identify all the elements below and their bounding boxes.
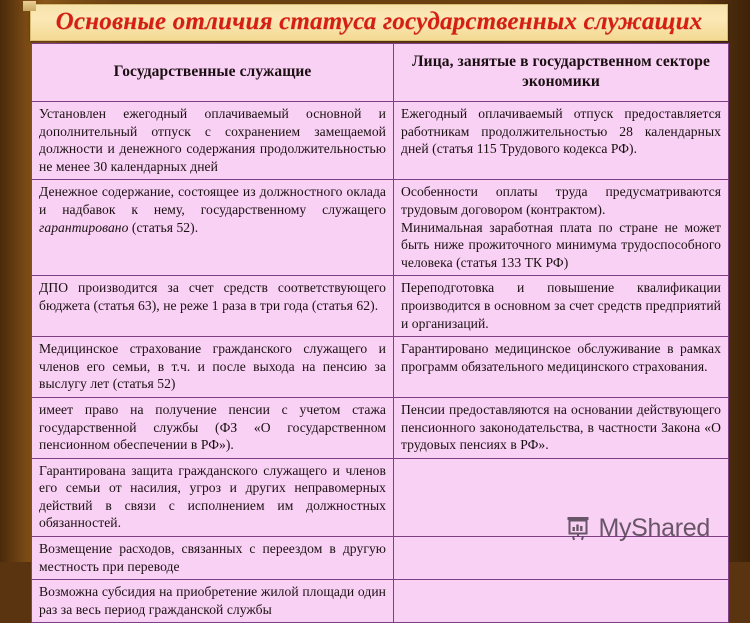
- cell-paragraph: Пенсии предоставляются на основании дейс…: [401, 401, 721, 454]
- cell-right-housing-empty: [394, 580, 729, 623]
- slide-title-banner: Основные отличия статуса государственных…: [30, 4, 728, 41]
- cell-right-medical: Гарантировано медицинское обслуживание в…: [394, 337, 729, 398]
- column-header-public-sector-workers: Лица, занятые в государственном секторе …: [394, 44, 729, 102]
- cell-right-pay: Особенности оплаты труда предусматривают…: [394, 180, 729, 276]
- table-row: ДПО производится за счет средств соответ…: [32, 276, 729, 337]
- cell-text-pre: Денежное содержание, состоящее из должно…: [39, 184, 386, 217]
- cell-paragraph: Переподготовка и повышение квалификации …: [401, 279, 721, 332]
- table-row: имеет право на получение пенсии с учетом…: [32, 397, 729, 458]
- slide-canvas: Основные отличия статуса государственных…: [0, 0, 750, 562]
- cell-paragraph: Денежное содержание, состоящее из должно…: [39, 183, 386, 236]
- table-row: Медицинское страхование гражданского слу…: [32, 337, 729, 398]
- cell-right-vacation: Ежегодный оплачиваемый отпуск предоставл…: [394, 102, 729, 180]
- cell-right-protection-empty: [394, 458, 729, 536]
- cell-left-pension: имеет право на получение пенсии с учетом…: [32, 397, 394, 458]
- cell-right-pension: Пенсии предоставляются на основании дейс…: [394, 397, 729, 458]
- cell-text-post: (статья 52).: [128, 220, 198, 235]
- cell-paragraph: Установлен ежегодный оплачиваемый основн…: [39, 105, 386, 175]
- cell-paragraph: Особенности оплаты труда предусматривают…: [401, 183, 721, 218]
- table-head: Государственные служащие Лица, занятые в…: [32, 44, 729, 102]
- cell-paragraph: Гарантировано медицинское обслуживание в…: [401, 340, 721, 375]
- cell-paragraph: Минимальная заработная плата по стране н…: [401, 219, 721, 272]
- cell-paragraph: Возможна субсидия на приобретение жилой …: [39, 583, 386, 618]
- cell-left-vacation: Установлен ежегодный оплачиваемый основн…: [32, 102, 394, 180]
- table-body: Установлен ежегодный оплачиваемый основн…: [32, 102, 729, 623]
- cell-paragraph: ДПО производится за счет средств соответ…: [39, 279, 386, 314]
- cell-right-relocation-empty: [394, 537, 729, 580]
- cell-left-housing: Возможна субсидия на приобретение жилой …: [32, 580, 394, 623]
- table-row: Возмещение расходов, связанных с переезд…: [32, 537, 729, 580]
- cell-text-emphasis: гарантировано: [39, 220, 128, 235]
- table-row: Установлен ежегодный оплачиваемый основн…: [32, 102, 729, 180]
- table-header-row: Государственные служащие Лица, занятые в…: [32, 44, 729, 102]
- cell-left-training: ДПО производится за счет средств соответ…: [32, 276, 394, 337]
- cell-left-protection: Гарантирована защита гражданского служащ…: [32, 458, 394, 536]
- cell-left-medical: Медицинское страхование гражданского слу…: [32, 337, 394, 398]
- cell-left-relocation: Возмещение расходов, связанных с переезд…: [32, 537, 394, 580]
- table-row: Возможна субсидия на приобретение жилой …: [32, 580, 729, 623]
- cell-left-pay: Денежное содержание, состоящее из должно…: [32, 180, 394, 276]
- comparison-table: Государственные служащие Лица, занятые в…: [31, 43, 729, 623]
- page-title: Основные отличия статуса государственных…: [30, 6, 728, 38]
- cell-paragraph: Медицинское страхование гражданского слу…: [39, 340, 386, 393]
- cell-paragraph: Гарантирована защита гражданского служащ…: [39, 462, 386, 532]
- cell-paragraph: Возмещение расходов, связанных с переезд…: [39, 540, 386, 575]
- cell-right-training: Переподготовка и повышение квалификации …: [394, 276, 729, 337]
- table-row: Гарантирована защита гражданского служащ…: [32, 458, 729, 536]
- cell-paragraph: Ежегодный оплачиваемый отпуск предоставл…: [401, 105, 721, 158]
- cell-paragraph: имеет право на получение пенсии с учетом…: [39, 401, 386, 454]
- table-row: Денежное содержание, состоящее из должно…: [32, 180, 729, 276]
- column-header-civil-servants: Государственные служащие: [32, 44, 394, 102]
